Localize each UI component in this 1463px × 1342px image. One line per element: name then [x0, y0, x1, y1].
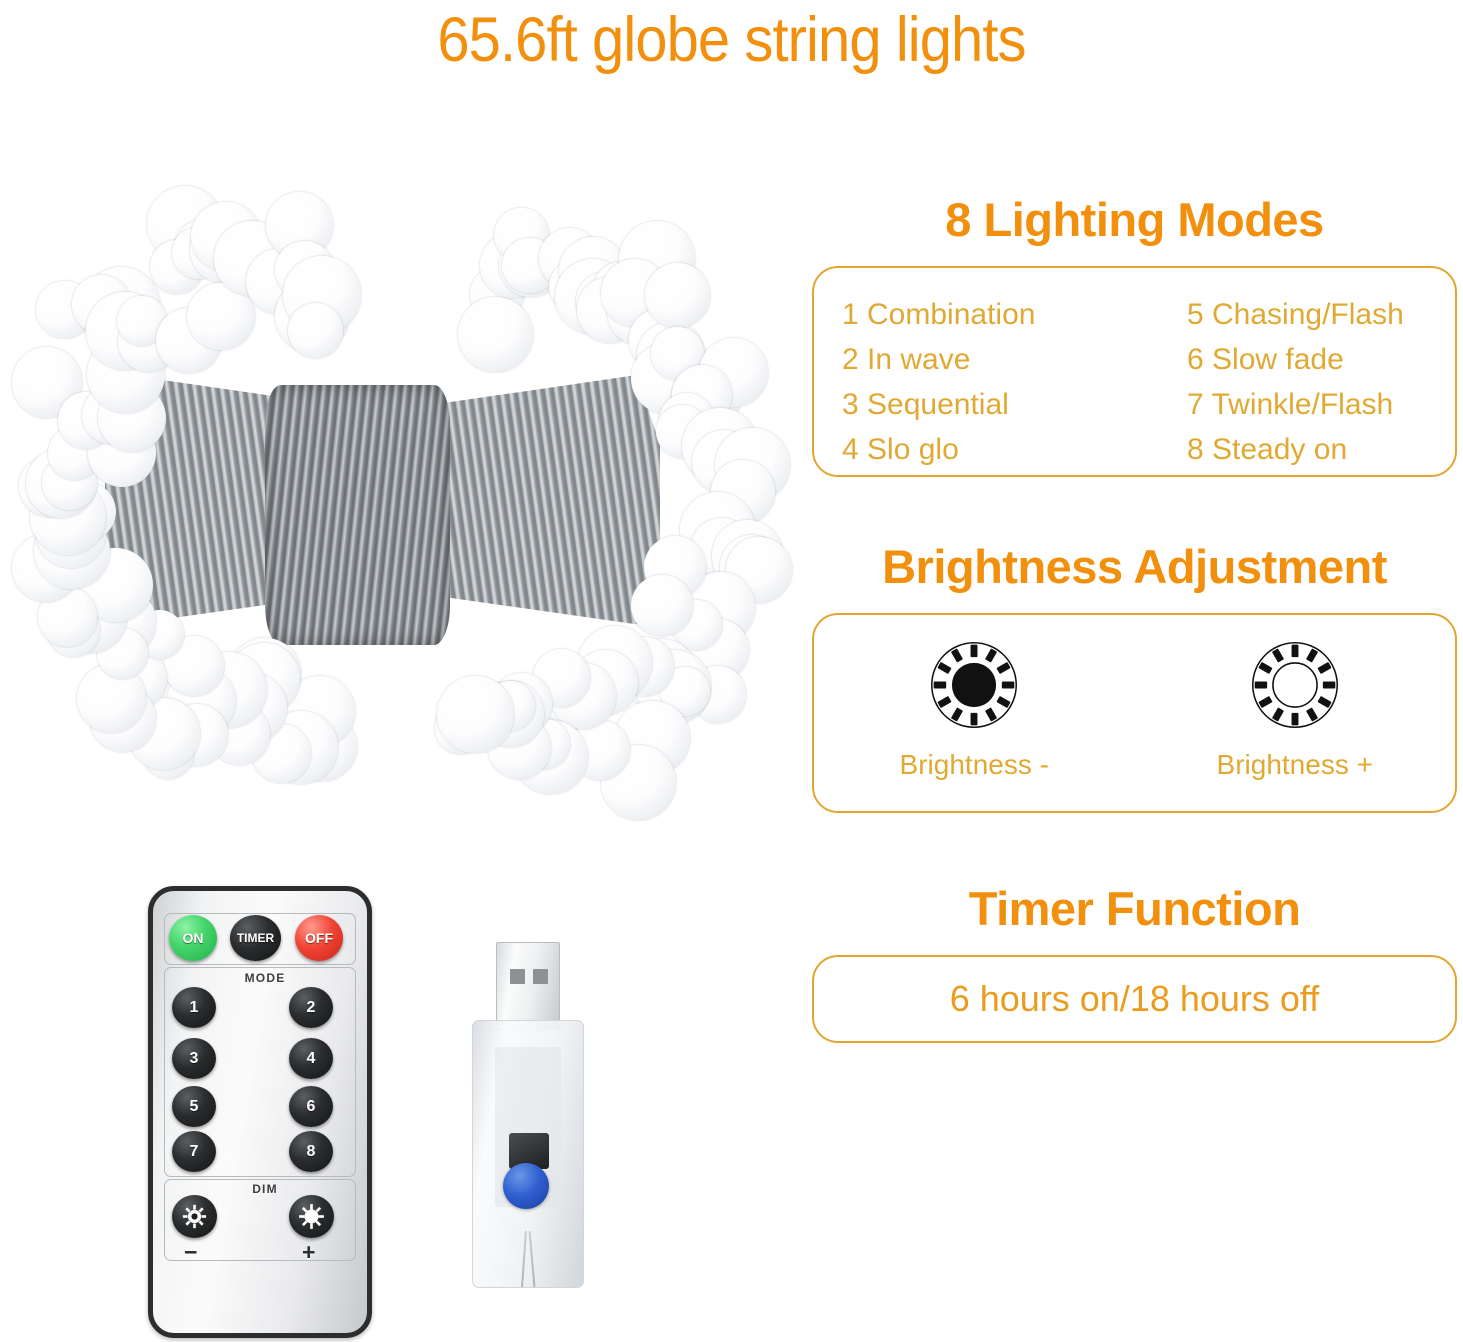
lighting-modes-heading: 8 Lighting Modes	[812, 190, 1457, 250]
lighting-modes-box: 1 Combination 5 Chasing/Flash 2 In wave …	[812, 266, 1457, 477]
usb-lead-wire-1	[521, 1231, 527, 1287]
brightness-heading: Brightness Adjustment	[812, 537, 1457, 597]
usb-slot-right	[533, 969, 548, 984]
remote-dim-up-button[interactable]	[289, 1195, 334, 1238]
mode-item-5: 5 Chasing/Flash	[1187, 292, 1427, 337]
mode-item-4: 4 Slo glo	[842, 427, 1187, 472]
wire-coil-knot	[265, 385, 450, 645]
sun-dim-icon	[179, 1201, 210, 1232]
remote-mode-button-8[interactable]: 8	[289, 1131, 333, 1172]
brightness-up-icon	[1247, 637, 1343, 733]
mode-item-3: 3 Sequential	[842, 382, 1187, 427]
usb-housing	[472, 1020, 584, 1288]
remote-mode-button-2[interactable]: 2	[289, 987, 333, 1028]
string-lights-bundle	[10, 175, 790, 835]
timer-heading: Timer Function	[812, 879, 1457, 939]
globe-bulb	[437, 676, 514, 753]
remote-mode-label: MODE	[153, 971, 377, 985]
remote-mode-button-7[interactable]: 7	[172, 1131, 216, 1172]
feature-column: 8 Lighting Modes 1 Combination 5 Chasing…	[812, 190, 1457, 1043]
remote-mode-button-4[interactable]: 4	[289, 1038, 333, 1079]
brightness-box: Brightness -	[812, 613, 1457, 813]
page-title: 65.6ft globe string lights	[59, 4, 1405, 76]
brightness-down-cell: Brightness -	[849, 637, 1099, 781]
mode-item-6: 6 Slow fade	[1187, 337, 1427, 382]
remote-mode-button-3[interactable]: 3	[172, 1038, 216, 1079]
usb-plug-head	[496, 942, 560, 1030]
remote-mode-button-5[interactable]: 5	[172, 1086, 216, 1127]
remote-dim-label: DIM	[153, 1182, 377, 1196]
mode-item-2: 2 In wave	[842, 337, 1187, 382]
globe-bulb	[288, 303, 343, 358]
brightness-up-cell: Brightness +	[1170, 637, 1420, 781]
usb-lead-wire-2	[529, 1231, 536, 1287]
remote-dim-plus-sign: +	[302, 1239, 315, 1266]
usb-mode-button[interactable]	[503, 1163, 549, 1209]
mode-item-7: 7 Twinkle/Flash	[1187, 382, 1427, 427]
usb-power-connector	[472, 942, 584, 1332]
globe-bulb	[631, 575, 693, 637]
sun-bright-icon	[296, 1201, 327, 1232]
remote-control[interactable]: ON TIMER OFF MODE 1 2 3 4 5 6 7 8 DIM	[148, 886, 372, 1338]
remote-dim-minus-sign: −	[184, 1239, 197, 1266]
brightness-down-label: Brightness -	[849, 749, 1099, 781]
globe-bulb	[458, 297, 533, 372]
usb-slot-left	[510, 969, 525, 984]
remote-on-button[interactable]: ON	[169, 915, 217, 961]
remote-dim-down-button[interactable]	[172, 1195, 217, 1238]
remote-mode-button-1[interactable]: 1	[172, 987, 216, 1028]
remote-timer-button[interactable]: TIMER	[230, 915, 281, 961]
remote-mode-button-6[interactable]: 6	[289, 1086, 333, 1127]
timer-box: 6 hours on/18 hours off	[812, 955, 1457, 1043]
lighting-modes-grid: 1 Combination 5 Chasing/Flash 2 In wave …	[842, 292, 1427, 472]
wire-fan-right	[430, 375, 660, 625]
product-photo	[10, 175, 790, 835]
brightness-down-icon	[926, 637, 1022, 733]
mode-item-8: 8 Steady on	[1187, 427, 1427, 472]
brightness-up-label: Brightness +	[1170, 749, 1420, 781]
remote-off-button[interactable]: OFF	[295, 915, 343, 961]
globe-bulb	[645, 263, 710, 328]
timer-value: 6 hours on/18 hours off	[950, 978, 1320, 1020]
mode-item-1: 1 Combination	[842, 292, 1187, 337]
